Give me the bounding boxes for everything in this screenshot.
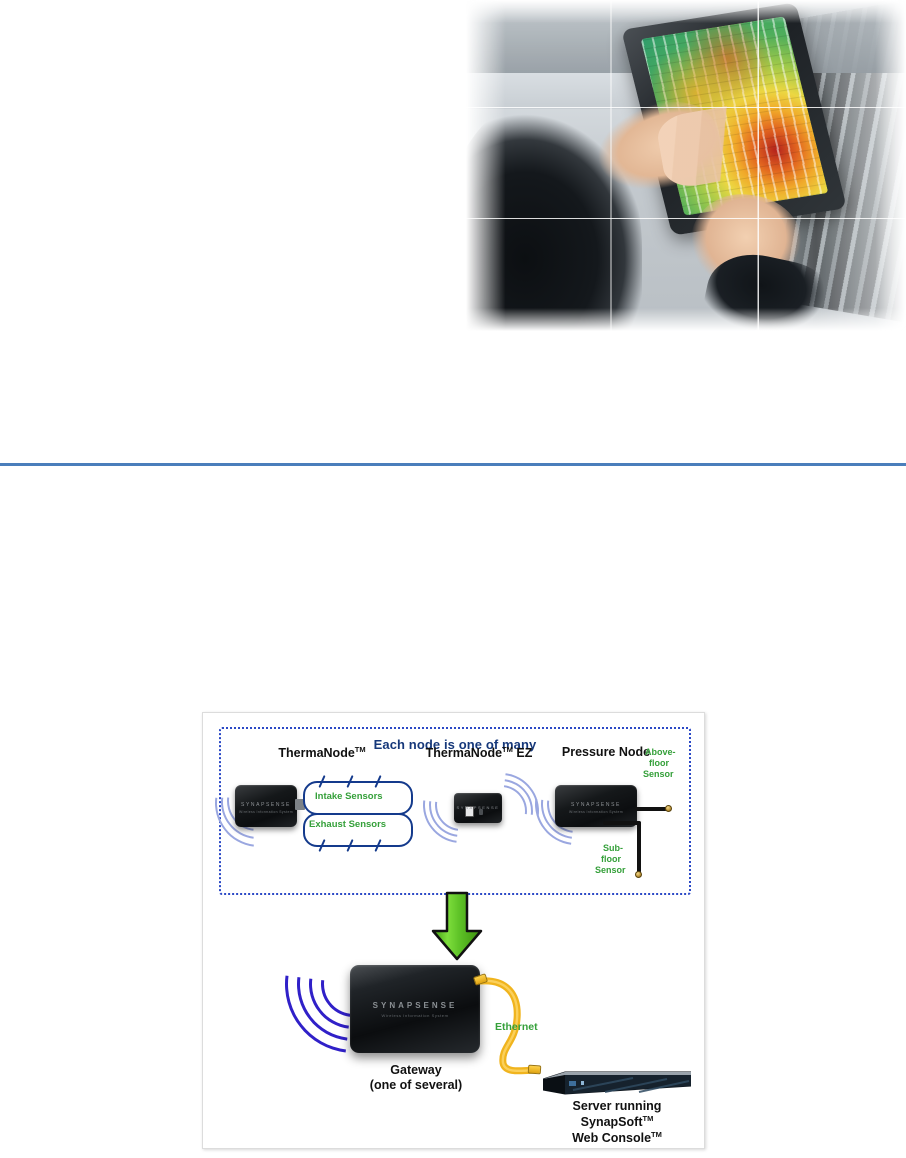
rj45-connector-server: [528, 1065, 542, 1075]
web-console-trademark: TM: [651, 1130, 662, 1139]
thermanode-ez-title: ThermaNodeTM EZ: [415, 745, 543, 760]
synapsoft-label: SynapSoft: [581, 1115, 643, 1129]
gateway-device: SYNAPSENSE Wireless Information System: [350, 965, 480, 1053]
above-floor-sensor-label-line1: Above-: [645, 747, 676, 757]
section-divider-rule: [0, 463, 906, 466]
gateway-logo: SYNAPSENSE: [350, 1001, 480, 1010]
thermanode-device-logo: SYNAPSENSE: [235, 802, 297, 808]
pressure-node-device-logo: SYNAPSENSE: [555, 802, 637, 808]
sub-floor-sensor-label-line3: Sensor: [595, 865, 626, 875]
white-vignette: [466, 0, 906, 331]
above-floor-sensor-label-line3: Sensor: [643, 769, 674, 779]
intake-sensors-label: Intake Sensors: [315, 791, 383, 802]
server-caption-line3: Web ConsoleTM: [533, 1130, 701, 1146]
exhaust-sensors-label: Exhaust Sensors: [309, 819, 386, 830]
thermanode-device: SYNAPSENSE Wireless Information System: [235, 785, 297, 827]
thermanode-ez-device-logo: SYNAPSENSE: [454, 805, 502, 810]
data-center-tablet-photo: [466, 0, 906, 331]
pressure-node-label: Pressure Node: [562, 745, 650, 759]
thermanode-device-sublogo: Wireless Information System: [235, 810, 297, 814]
ethernet-label: Ethernet: [495, 1021, 538, 1033]
thermanode-ez-trademark: TM: [502, 745, 513, 754]
thermanode-label: ThermaNode: [278, 746, 354, 760]
thermanode-ez-label: ThermaNode: [426, 746, 502, 760]
sub-floor-cable-horizontal: [603, 821, 641, 825]
downward-data-flow-arrow: [429, 891, 485, 963]
thermanode-title: ThermaNodeTM: [227, 745, 417, 760]
sub-floor-cable-vertical: [637, 821, 641, 873]
synapsense-architecture-diagram: Each node is one of many ThermaNodeTM SY…: [202, 712, 705, 1149]
above-floor-sensor-label-line2: floor: [649, 758, 669, 768]
node-column-thermanode-ez: ThermaNodeTM EZ: [415, 745, 543, 760]
thermanode-trademark: TM: [355, 745, 366, 754]
web-console-label: Web Console: [572, 1131, 651, 1145]
node-column-thermanode: ThermaNodeTM: [227, 745, 417, 760]
above-floor-cable: [635, 807, 667, 811]
sub-floor-sensor-label-line1: Sub-: [603, 843, 623, 853]
synapsoft-trademark: TM: [642, 1114, 653, 1123]
server-caption: Server running SynapSoftTM Web ConsoleTM: [533, 1099, 701, 1146]
pressure-node-device-sublogo: Wireless Information System: [555, 810, 637, 814]
server-caption-line2: SynapSoftTM: [533, 1114, 701, 1130]
gateway-sublogo: Wireless Information System: [350, 1013, 480, 1018]
thermanode-ez-device: SYNAPSENSE: [454, 793, 502, 823]
sub-floor-sensor-tip: [635, 871, 642, 878]
sub-floor-sensor-label-line2: floor: [601, 854, 621, 864]
above-floor-sensor-tip: [665, 805, 672, 812]
thermanode-ez-suffix: EZ: [513, 746, 532, 760]
server-caption-line1: Server running: [533, 1099, 701, 1114]
server-device: [543, 1070, 691, 1096]
